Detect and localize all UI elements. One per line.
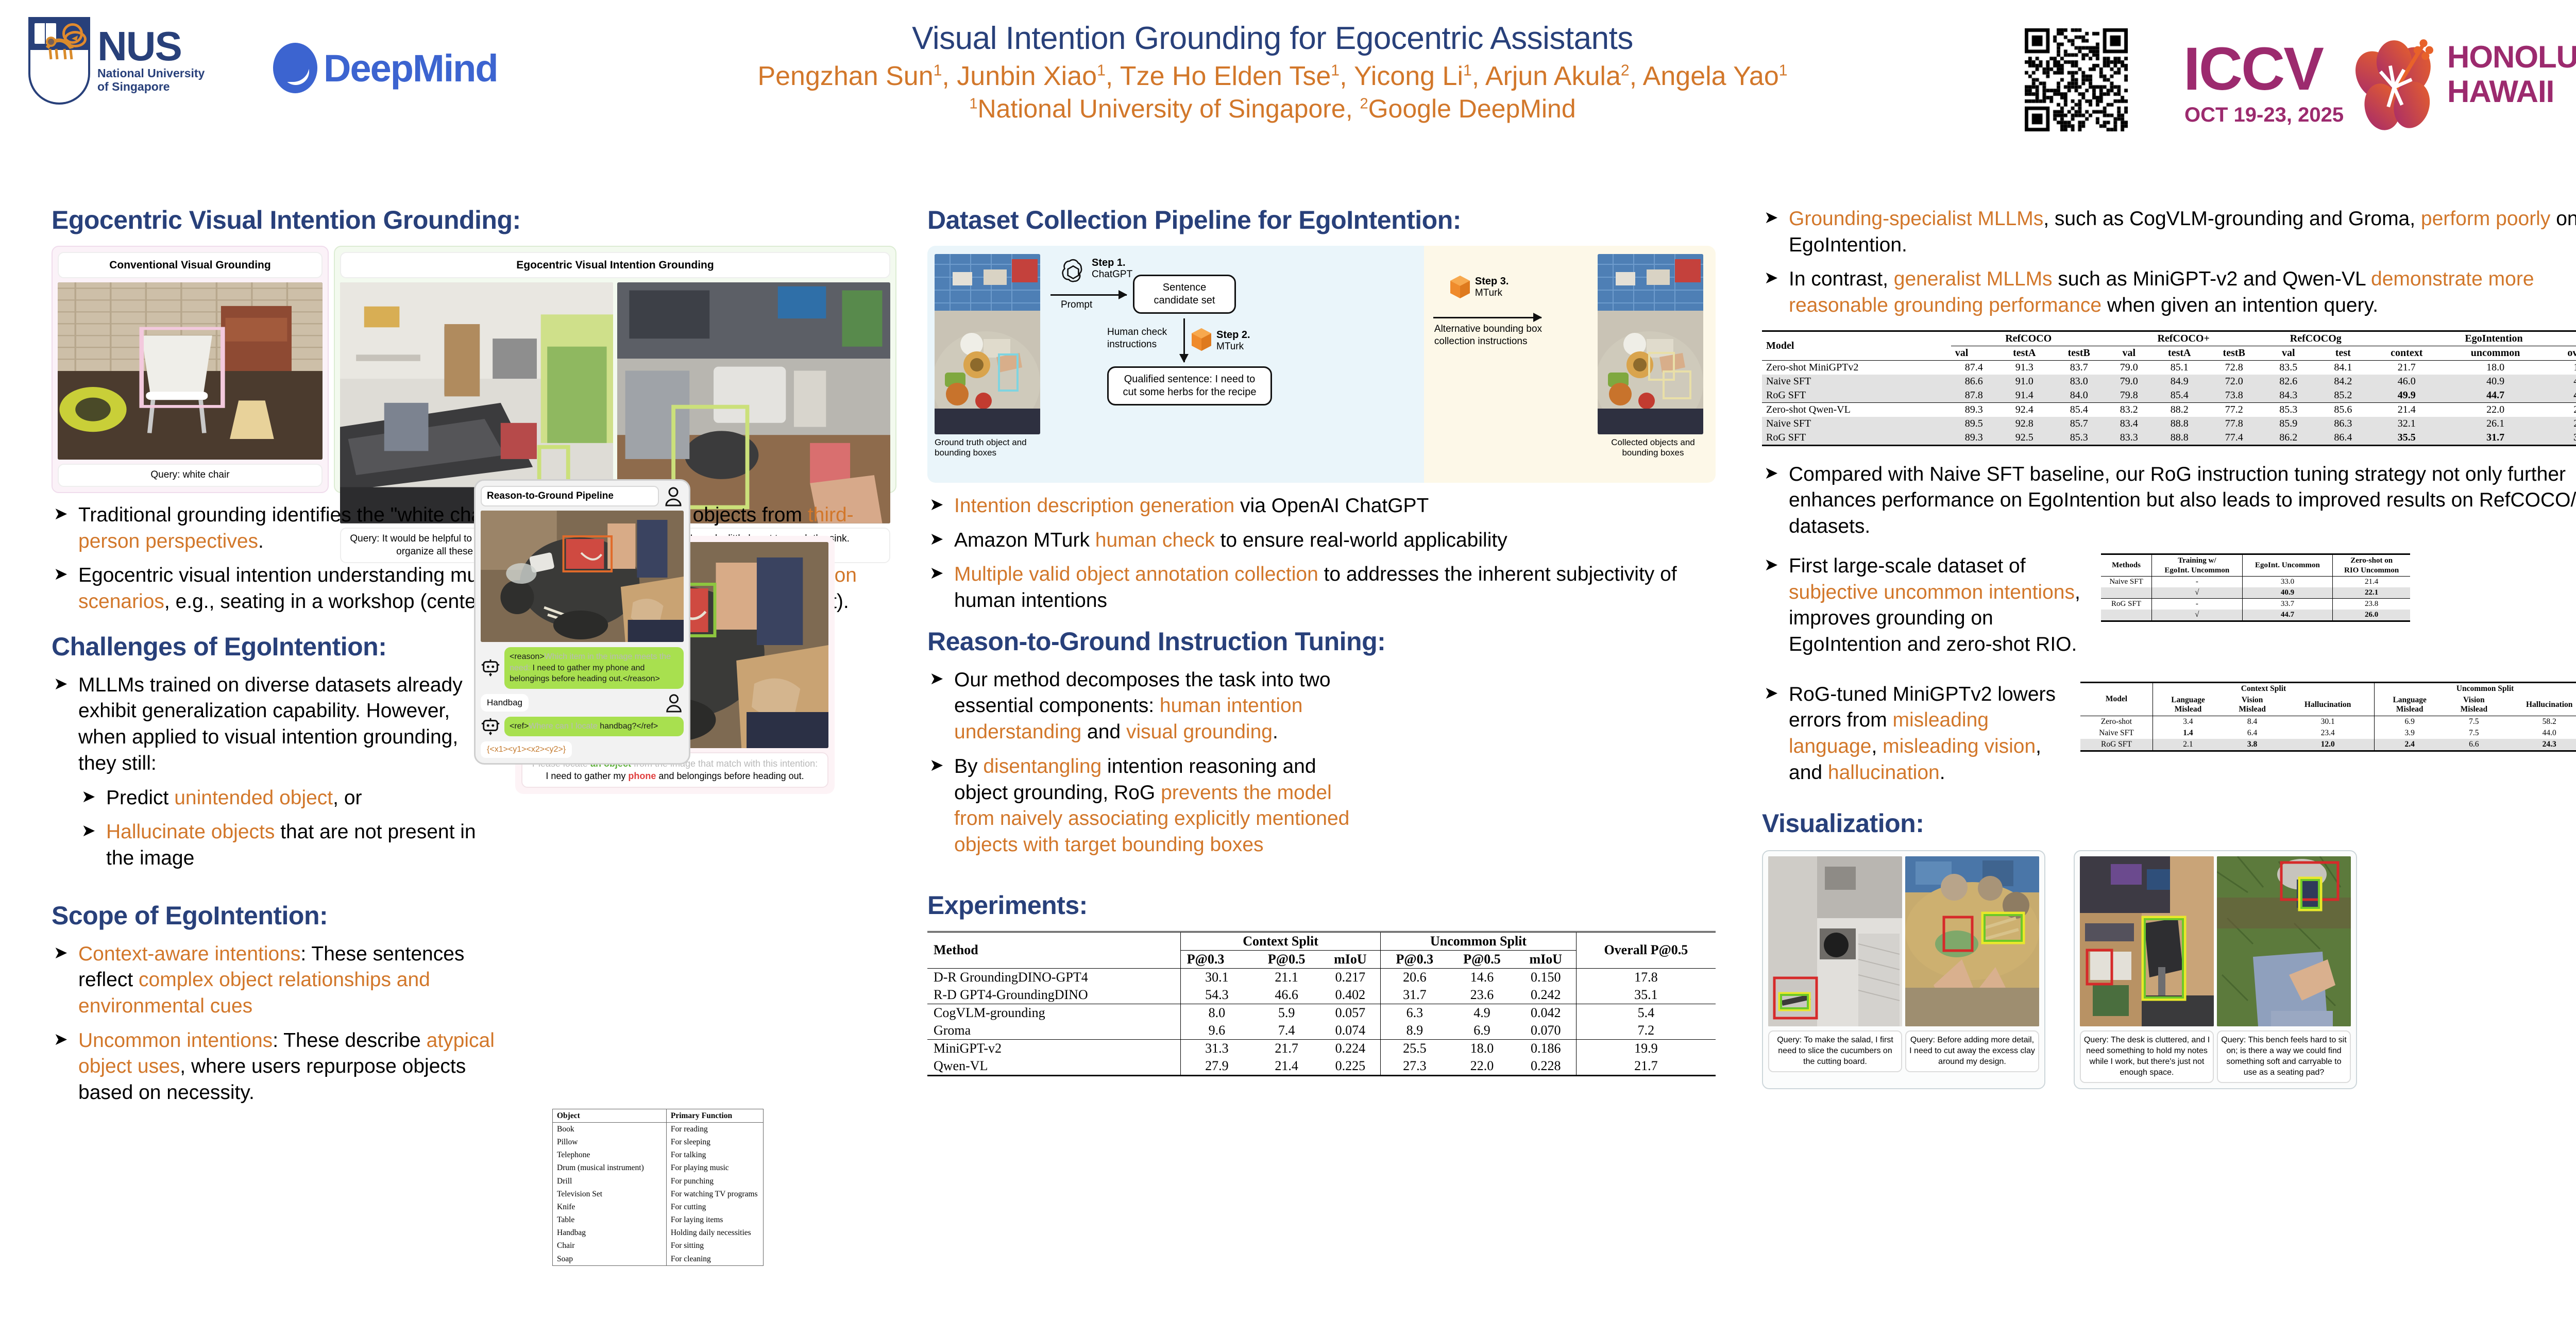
table-row: Naive SFT86.691.083.079.084.972.082.684.… [1762,375,2576,388]
table-cell: √ [2152,610,2243,621]
nus-name-line2: of Singapore [97,80,205,94]
viz-image-kitchen-knife [1768,856,1902,1026]
table-row: Zero-shot MiniGPTv287.491.383.779.085.17… [1762,360,2576,375]
bullet-list-rog-improvement: Compared with Naive SFT baseline, our Ro… [1762,462,2576,540]
table-cell: 91.0 [1997,375,2052,388]
table-cell: Drill [553,1175,667,1188]
mturk-cube-icon-step3 [1449,275,1471,299]
table-cell: 33.7 [2242,599,2333,610]
table-cell: 26.0 [2333,610,2410,621]
table-cell: 85.3 [2052,431,2106,446]
table-cell: 21.7 [2548,402,2576,417]
table-cell: 12.0 [2281,739,2374,751]
table-cell: 89.5 [1951,417,1997,431]
nus-logo: NUS National University of Singapore [28,15,255,106]
table-row: R-D GPT4-GroundingDINO54.346.60.40231.72… [927,986,1716,1004]
bullet-item: Context-aware intentions: These sentence… [52,941,515,1020]
table-cell: 0.242 [1516,986,1576,1004]
table-cell: 83.2 [2106,402,2152,417]
table-row: Groma9.67.40.0748.96.90.0707.2 [927,1022,1716,1040]
table-cell: 86.2 [2261,431,2316,446]
column-header: Overall P@0.5 [1576,932,1716,968]
table-header-row: ModelRefCOCORefCOCO+RefCOCOgEgoIntention [1762,331,2576,346]
table-cell: Book [553,1123,667,1136]
nus-shield-icon [28,17,90,105]
body-text: , such as CogVLM-grounding and Groma, [2043,208,2421,230]
table-cell: 85.7 [2052,417,2106,431]
highlight-text: subjective uncommon intentions [1789,581,2075,603]
figure-dataset-pipeline: Ground truth object and bounding boxes S… [927,246,1716,483]
table-cell: Table [553,1214,667,1227]
table-cell: Chair [553,1240,667,1253]
table-row: MiniGPT-v231.321.70.22425.518.00.18619.9 [927,1039,1716,1057]
table-row: √44.726.0 [2101,610,2410,621]
table-cell: 20.6 [1381,968,1448,986]
table-row: PillowFor sleeping [553,1136,764,1148]
deepmind-wordmark: DeepMind [324,46,498,90]
viz-caption-4: Query: This bench feels hard to sit on; … [2217,1030,2351,1083]
halluc-cap2-post: and belongings before heading out. [656,771,804,781]
column-group-header: Uncommon Split [2375,682,2576,695]
table-cell: 6.3 [1381,1004,1448,1022]
table-cell: 21.4 [2333,577,2410,588]
viz-caption-2: Query: Before adding more detail, I need… [1905,1030,2039,1072]
bullet-item: By disentangling intention reasoning and… [927,754,1370,858]
table-cell: 3.9 [2375,728,2445,739]
body-text: such as MiniGPT-v2 and Qwen-VL [2053,268,2371,290]
mturk-cube-icon-step2 [1191,327,1212,352]
table-row: HandbagHolding daily necessities [553,1227,764,1240]
table-cell: 0.186 [1516,1039,1576,1057]
table-row: Qwen-VL27.921.40.22527.322.00.22821.7 [927,1057,1716,1076]
table-cell: 30.1 [2281,716,2374,728]
table-row: TelephoneFor talking [553,1149,764,1162]
table-cell: RoG SFT [2101,599,2152,610]
highlight-text: Context-aware intentions [78,943,300,965]
section-title-rog: Reason-to-Ground Instruction Tuning: [927,628,1721,656]
table-cell: 6.4 [2223,728,2281,739]
body-text: MLLMs trained on diverse datasets alread… [78,674,463,774]
table-cell: 46.0 [2370,375,2443,388]
bullet-item: Hallucinate objects that are not present… [79,819,495,871]
table-cell: 0.057 [1320,1004,1380,1022]
table-cell: 27.9 [1180,1057,1253,1076]
panel-caption-conventional: Conventional Visual Grounding [58,252,323,278]
body-text: to ensure real-world applicability [1215,529,1507,551]
table-cell: 54.3 [1180,986,1253,1004]
pipeline-stage-1-2: Ground truth object and bounding boxes S… [927,246,1424,483]
table-cell: 85.3 [2261,402,2316,417]
column-header: VisionMislead [2445,695,2503,716]
table-row: √40.922.1 [2101,587,2410,599]
table-cell: 21.4 [1253,1057,1320,1076]
table-cell: 40.9 [2242,587,2333,599]
table-cell: Naive SFT [2080,728,2153,739]
query-conventional: Query: white chair [58,464,323,487]
column-group-header: Uncommon Split [1381,932,1576,950]
body-text: Compared with Naive SFT baseline, our Ro… [1789,463,2576,537]
page-title: Visual Intention Grounding for Egocentri… [613,20,1932,57]
table-cell: 87.4 [1951,360,1997,375]
pipeline-arrow-humancheck [1183,318,1185,362]
table-row: RoG SFT89.392.585.383.388.877.486.286.43… [1762,431,2576,446]
column-group-header: RefCOCOg [2261,331,2370,346]
table-row: SoapFor cleaning [553,1253,764,1266]
pipeline-altbbox-label: Alternative bounding box collection inst… [1434,323,1545,348]
body-text: : These describe [273,1029,426,1052]
column-header: context [2370,346,2443,360]
pipeline-arrow-prompt [1050,294,1127,296]
table-cell: 7.4 [1253,1022,1320,1040]
table-cell: 91.4 [1997,388,2052,403]
viz-image-bench-grass [2217,856,2351,1026]
bullet-item: Intention description generation via Ope… [927,493,1721,519]
table-cell: 79.0 [2106,360,2152,375]
column-header: LanguageMislead [2153,695,2223,716]
figure-rog-pipeline: Reason-to-Ground Pipeline [474,479,690,765]
column-header: testA [1997,346,2052,360]
user-avatar-icon-2 [664,693,684,713]
column-header: uncommon [2443,346,2548,360]
hibiscus-flower-icon [2345,32,2443,130]
table-cell: 5.4 [1576,1004,1716,1022]
table-cell: 85.1 [2152,360,2207,375]
bullet-list-scope: Context-aware intentions: These sentence… [52,941,515,1106]
table-cell: 0.224 [1320,1039,1380,1057]
table-cell: 2.1 [2153,739,2223,751]
panel-ego-grounding: Egocentric Visual Intention Grounding [334,246,896,493]
bullet-list-challenges-sub: Predict unintended object, orHallucinate… [79,785,495,872]
bullet-list-dataset: Intention description generation via Ope… [927,493,1721,614]
table-cell: 24.3 [2503,739,2576,751]
table-cell: 84.0 [2052,388,2106,403]
body-text: In contrast, [1789,268,1894,290]
lion-icon [40,23,80,63]
rog-user-reply: Handbag [481,694,529,712]
table-cell: 73.8 [2207,388,2261,403]
iccv-city-line1: HONOLULU [2447,40,2576,74]
column-header: Hallucination [2503,695,2576,716]
bullet-list-findings-top: Grounding-specialist MLLMs, such as CogV… [1762,206,2576,319]
table-cell: 44.7 [2443,388,2548,403]
table-cell: Zero-shot MiniGPTv2 [1762,360,1951,375]
table-rio-ablation: MethodsTraining w/ EgoInt. UncommonEgoIn… [2101,553,2410,622]
viz-card-2: Query: The desk is cluttered, and I need… [2074,850,2357,1089]
table-cell: For cutting [666,1200,763,1213]
table-cell: 30.1 [1180,968,1253,986]
body-text: . [1940,762,1945,784]
chatgpt-icon [1060,257,1087,284]
table-row: Naive SFT1.46.423.43.97.544.0 [2080,728,2576,739]
pipeline-step2-name: MTurk [1216,341,1244,352]
table-cell: 31.3 [1180,1039,1253,1057]
body-text: and [1081,721,1126,743]
column-header: Method [927,932,1180,968]
column-group-header: Context Split [2153,682,2374,695]
column-header: val [1951,346,1997,360]
table-cell: 85.4 [2152,388,2207,403]
table-cell: 92.4 [1997,402,2052,417]
table-cell: 1.4 [2153,728,2223,739]
viz-caption-1: Query: To make the salad, I first need t… [1768,1030,1902,1072]
table-row: ChairFor sitting [553,1240,764,1253]
table-cell: 0.225 [1320,1057,1380,1076]
table-cell: 22.0 [2443,402,2548,417]
body-text: Egocentric visual intention understandin… [78,564,499,586]
rog-reason-tag-open: <reason> [510,652,545,661]
table-cell: 40.9 [2443,375,2548,388]
bullet-item: Grounding-specialist MLLMs, such as CogV… [1762,206,2576,258]
table-cell: 6.6 [2445,739,2503,751]
table-cell: 7.5 [2445,728,2503,739]
highlight-text: Uncommon intentions [78,1029,273,1052]
halluc-cap2-phone: phone [628,771,656,781]
section-title-ego-grounding: Egocentric Visual Intention Grounding: [52,206,896,234]
visualization-gallery: Query: To make the salad, I first need t… [1762,850,2576,1089]
column-header: mIoU [1516,950,1576,968]
nus-abbreviation: NUS [97,28,205,65]
affiliation-list: 1National University of Singapore, 2Goog… [613,93,1932,125]
bullet-item: Compared with Naive SFT baseline, our Ro… [1762,462,2576,540]
table-cell: Knife [553,1200,667,1213]
table-header-row: ModelContext SplitUncommon Split [2080,682,2576,695]
column-header: P@0.5 [1253,950,1320,968]
iccv-wordmark: ICCV [2183,39,2323,99]
highlight-text: misleading vision [1883,735,2036,757]
table-cell: 0.070 [1516,1022,1576,1040]
table-cell: 89.3 [1951,402,1997,417]
highlight-text: generalist MLLMs [1894,268,2053,290]
bullet-list-error-reduction: RoG-tuned MiniGPTv2 lowers errors from m… [1762,682,2071,794]
table-cell: 84.3 [2261,388,2316,403]
poster-header: NUS National University of Singapore Dee… [0,0,2576,178]
bullet-list-rog: Our method decomposes the task into two … [927,667,1370,858]
qr-code[interactable] [2025,28,2128,131]
table-cell: 19.9 [1576,1039,1716,1057]
bullet-item: MLLMs trained on diverse datasets alread… [52,672,495,777]
table-cell: 84.9 [2152,375,2207,388]
table-cell: For watching TV programs [666,1188,763,1200]
table-cell: MiniGPT-v2 [927,1039,1180,1057]
body-text: via OpenAI ChatGPT [1234,495,1429,517]
bullet-list-dataset-first: First large-scale dataset of subjective … [1762,553,2092,666]
body-text: Amazon MTurk [954,529,1095,551]
table-cell: For talking [666,1149,763,1162]
image-white-chair [58,282,323,460]
pipeline-step3-name: MTurk [1475,288,1502,298]
table-cell: 83.4 [2106,417,2152,431]
table-cell: 83.0 [2052,375,2106,388]
pipeline-box-sentence-candidate: Sentence candidate set [1133,275,1236,314]
column-header: Methods [2101,554,2152,577]
table-cell: 79.0 [2106,375,2152,388]
table-cell: R-D GPT4-GroundingDINO [927,986,1180,1004]
table-cell: 83.7 [2052,360,2106,375]
table-cell: 21.7 [2370,360,2443,375]
table-cell: 77.4 [2207,431,2261,446]
highlight-text: Grounding-specialist MLLMs [1789,208,2043,230]
table-cell: RoG SFT [1762,388,1951,403]
table-cell: 79.8 [2106,388,2152,403]
table-cell: 22.1 [2333,587,2410,599]
viz-caption-3: Query: The desk is cluttered, and I need… [2080,1030,2214,1083]
user-avatar-icon [663,486,684,506]
table-cell: 23.8 [2333,599,2410,610]
body-text: , [1872,735,1883,757]
table-row: DrillFor punching [553,1175,764,1188]
bot-icon-1 [481,658,500,678]
author-list: Pengzhan Sun1, Junbin Xiao1, Tze Ho Elde… [613,60,1932,93]
table-cell: 44.0 [2503,728,2576,739]
column-header: test [2316,346,2370,360]
table-cell: 21.7 [1576,1057,1716,1076]
table-cell: 8.9 [1381,1022,1448,1040]
column-header: Zero-shot on RIO Uncommon [2333,554,2410,577]
table-cell: 49.9 [2370,388,2443,403]
table-cell: RoG SFT [2080,739,2153,751]
table-cell: Zero-shot Qwen-VL [1762,402,1951,417]
table-cell: 21.4 [2370,402,2443,417]
table-row: Zero-shot Qwen-VL89.392.485.483.288.277.… [1762,402,2576,417]
highlight-text: Hallucinate objects [106,821,275,843]
table-cell: For laying items [666,1214,763,1227]
column-header: testB [2052,346,2106,360]
table-row: Zero-shot3.48.430.16.97.558.2 [2080,716,2576,728]
table-cell: 27.3 [1381,1057,1448,1076]
table-row: TableFor laying items [553,1214,764,1227]
column-header: Model [2080,682,2153,716]
table-cell: Zero-shot [2080,716,2153,728]
table-cell [2101,610,2152,621]
table-cell: For cleaning [666,1253,763,1266]
table-cell: 32.1 [2370,417,2443,431]
nus-name-line1: National University [97,67,205,80]
table-cell: Drum (musical instrument) [553,1162,667,1175]
pipeline-step3-label: Step 3. [1475,276,1509,287]
table-cell: 25.5 [1381,1039,1448,1057]
figure-grounding-comparison: Conventional Visual Grounding [52,246,896,493]
table-cell: 22.0 [1448,1057,1516,1076]
table-cell: 29.1 [2548,417,2576,431]
table-cell: Handbag [553,1227,667,1240]
table-cell: RoG SFT [1762,431,1951,446]
table-cell: 31.7 [1381,986,1448,1004]
table-cell: 77.2 [2207,402,2261,417]
table-cell: 84.1 [2316,360,2370,375]
bot-icon-2 [481,717,500,736]
viz-card-1: Query: To make the salad, I first need t… [1762,850,2045,1089]
table-row: RoG SFT-33.723.8 [2101,599,2410,610]
table-cell: Pillow [553,1136,667,1148]
body-text: . [258,530,264,552]
bullet-item: Our method decomposes the task into two … [927,667,1370,746]
column-header: Training w/ EgoInt. Uncommon [2152,554,2243,577]
table-cell: Telephone [553,1149,667,1162]
column-header: P@0.5 [1448,950,1516,968]
deepmind-logo: DeepMind [273,42,592,94]
highlight-text: human check [1095,529,1215,551]
body-text: First large-scale dataset of [1789,555,2026,577]
table-cell: 0.228 [1516,1057,1576,1076]
body-text: . [1273,721,1278,743]
table-cell: 77.8 [2207,417,2261,431]
section-title-visualization: Visualization: [1762,809,2576,838]
bullet-item: First large-scale dataset of subjective … [1762,553,2092,658]
table-row: Naive SFT-33.021.4 [2101,577,2410,588]
rog-figure-title: Reason-to-Ground Pipeline [481,486,659,506]
pipeline-humancheck-label: Human check instructions [1107,326,1177,351]
pipeline-box-qualified-sentence: Qualified sentence: I need to cut some h… [1107,366,1272,405]
column-header: Model [1762,331,1951,360]
table-row: Naive SFT89.592.885.783.488.877.885.986.… [1762,417,2576,431]
pipeline-prompt-label: Prompt [1061,299,1092,311]
table-cell: For punching [666,1175,763,1188]
rog-coordinates: {<x1><y1><x2><y2>} [481,741,572,758]
table-cell: √ [2152,587,2243,599]
table-subheader-row: LanguageMisleadVisionMisleadHallucinatio… [2080,695,2576,716]
viz-image-desk-chair [2080,856,2214,1026]
halluc-cap2-pre: I need to gather my [546,771,628,781]
table-cell: Television Set [553,1188,667,1200]
table-cell: 0.217 [1320,968,1380,986]
table-cell: 33.6 [2548,431,2576,446]
table-cell: 18.0 [2443,360,2548,375]
table-cell: 58.2 [2503,716,2576,728]
table-cell: 86.6 [1951,375,1997,388]
table-cell: 88.2 [2152,402,2207,417]
table-cell: 23.6 [1448,986,1516,1004]
table-cell: 85.2 [2316,388,2370,403]
body-text: Predict [106,787,174,809]
table-cell: 72.0 [2207,375,2261,388]
table-cell: 43.4 [2548,375,2576,388]
highlight-text: perform poorly [2421,208,2550,230]
column-group-header: RefCOCO [1951,331,2106,346]
table-cell: 0.074 [1320,1022,1380,1040]
highlight-text: hallucination [1828,762,1940,784]
bullet-item: Predict unintended object, or [79,785,495,811]
table-cell: 6.9 [2375,716,2445,728]
section-title-experiments: Experiments: [927,891,1721,920]
table-cell: 18.0 [1448,1039,1516,1057]
column-header: P@0.3 [1381,950,1448,968]
rog-ref-faded: Where can I locate [529,722,597,731]
table-header-row: MethodContext SplitUncommon SplitOverall… [927,932,1716,950]
table-cell: Naive SFT [1762,375,1951,388]
table-cell: Naive SFT [1762,417,1951,431]
right-column: Grounding-specialist MLLMs, such as CogV… [1762,206,2576,1089]
table-cell: 23.4 [2281,728,2374,739]
table-cell: 17.8 [1576,968,1716,986]
table-cell: 35.5 [2370,431,2443,446]
rog-ref-tag-open: <ref> [510,722,529,731]
table-cell: 92.8 [1997,417,2052,431]
column-header: val [2261,346,2316,360]
table-cell: 7.2 [1576,1022,1716,1040]
rog-reason-tag-close: </reason> [623,674,660,683]
table-cell: 85.4 [2052,402,2106,417]
bullet-item: Uncommon intentions: These describe atyp… [52,1028,515,1106]
middle-column: Dataset Collection Pipeline for EgoInten… [927,206,1721,1076]
table-cell: 83.3 [2106,431,2152,446]
column-header: LanguageMislead [2375,695,2445,716]
table-row: RoG SFT87.891.484.079.885.473.884.385.24… [1762,388,2576,403]
table-cell: For sitting [666,1240,763,1253]
table-cell: Naive SFT [2101,577,2152,588]
table-cell: 0.402 [1320,986,1380,1004]
bullet-list-challenges: MLLMs trained on diverse datasets alread… [52,672,495,777]
table-cell: 19.9 [2548,360,2576,375]
